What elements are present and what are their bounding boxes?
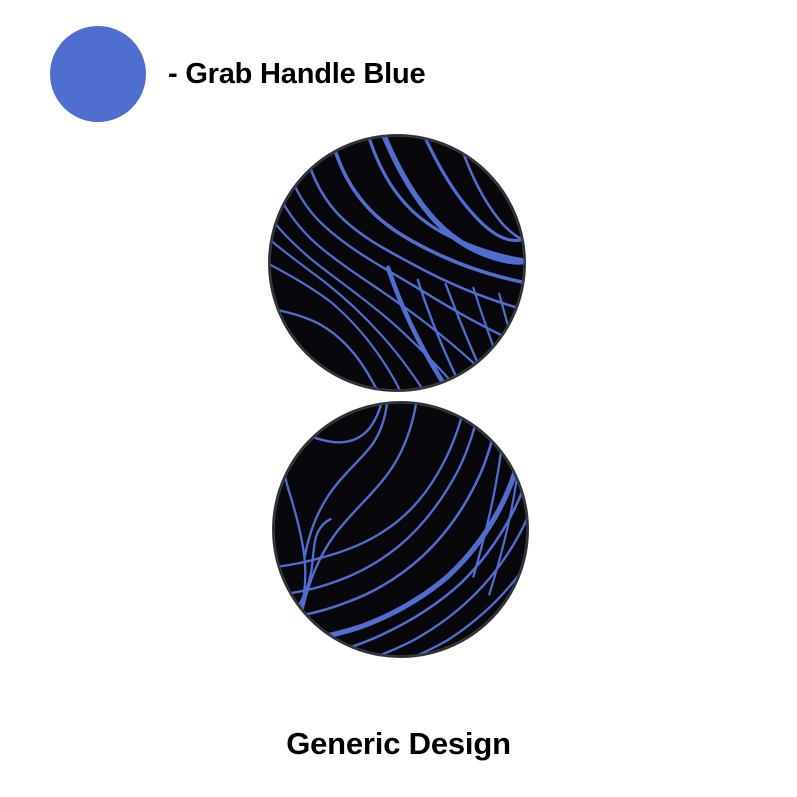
bottom-pattern-lines bbox=[273, 402, 528, 657]
design-preview-canvas: - Grab Handle Blue bbox=[0, 0, 797, 797]
color-swatch-circle bbox=[50, 26, 146, 122]
design-caption: Generic Design bbox=[0, 726, 797, 762]
top-pattern-lines bbox=[269, 135, 525, 391]
color-legend-label: - Grab Handle Blue bbox=[168, 58, 425, 91]
top-pattern-disc bbox=[268, 134, 526, 392]
color-legend: - Grab Handle Blue bbox=[50, 26, 550, 122]
bottom-pattern-disc bbox=[272, 401, 529, 658]
